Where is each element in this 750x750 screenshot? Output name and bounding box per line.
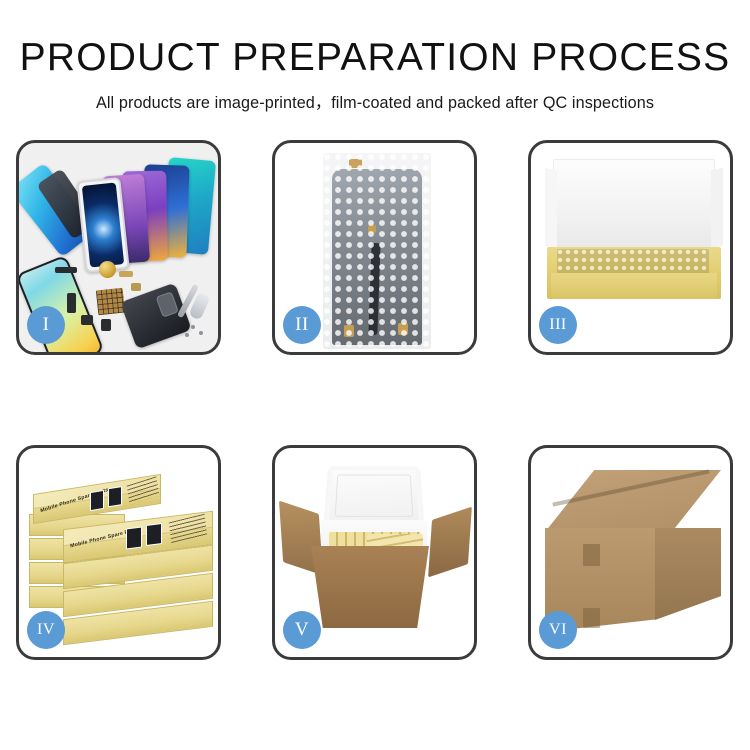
carton-flap-right-icon [428, 507, 472, 578]
carton-tape-icon [583, 544, 600, 566]
bubble-texture-icon [323, 153, 431, 349]
step-panel-2: II [272, 140, 477, 355]
step-badge-1: I [27, 306, 65, 344]
step-panel-1: I [16, 140, 221, 355]
screen-thumbnail [146, 523, 162, 546]
box-lid-icon [553, 159, 715, 257]
screw-icon [199, 331, 203, 335]
step-panel-5: V [272, 445, 477, 660]
page-title: PRODUCT PREPARATION PROCESS [0, 38, 750, 79]
header: PRODUCT PREPARATION PROCESS All products… [0, 38, 750, 113]
carton-side-face-icon [655, 528, 721, 620]
part-speaker-icon [101, 319, 111, 331]
page-subtitle: All products are image-printed，film-coat… [0, 89, 750, 113]
box-front-panel-icon [551, 273, 717, 299]
foam-lid-icon [325, 467, 424, 527]
gold-component-icon [99, 261, 116, 278]
carton-tape-icon [583, 608, 600, 628]
chip-grid-icon [96, 288, 125, 316]
part-flex-icon [67, 293, 76, 313]
step-badge-3: III [539, 306, 577, 344]
part-bar-icon [55, 267, 77, 273]
process-steps-grid: I II [0, 140, 750, 710]
step-badge-6: VI [539, 611, 577, 649]
part-gold-strip-icon [119, 271, 133, 277]
step-badge-5: V [283, 611, 321, 649]
step-panel-4: Mobile Phone Spare Parts Mobile Phone Sp… [16, 445, 221, 660]
bubble-wrapped-contents-icon [557, 249, 709, 275]
step-badge-4: IV [27, 611, 65, 649]
part-gold-chip-icon [131, 283, 141, 291]
phone-front-glass-icon [76, 177, 129, 273]
product-preparation-infographic: PRODUCT PREPARATION PROCESS All products… [0, 0, 750, 750]
carton-body-icon [311, 546, 429, 628]
part-small-icon [81, 315, 93, 325]
bubble-bag-icon [323, 153, 431, 349]
step-panel-3: III [528, 140, 733, 355]
screen-thumbnail [90, 490, 104, 511]
screen-thumbnail [126, 527, 142, 550]
screw-icon [191, 325, 195, 329]
screen-thumbnail [108, 486, 122, 507]
step-panel-6: VI [528, 445, 733, 660]
screw-icon [185, 333, 189, 337]
step-badge-2: II [283, 306, 321, 344]
